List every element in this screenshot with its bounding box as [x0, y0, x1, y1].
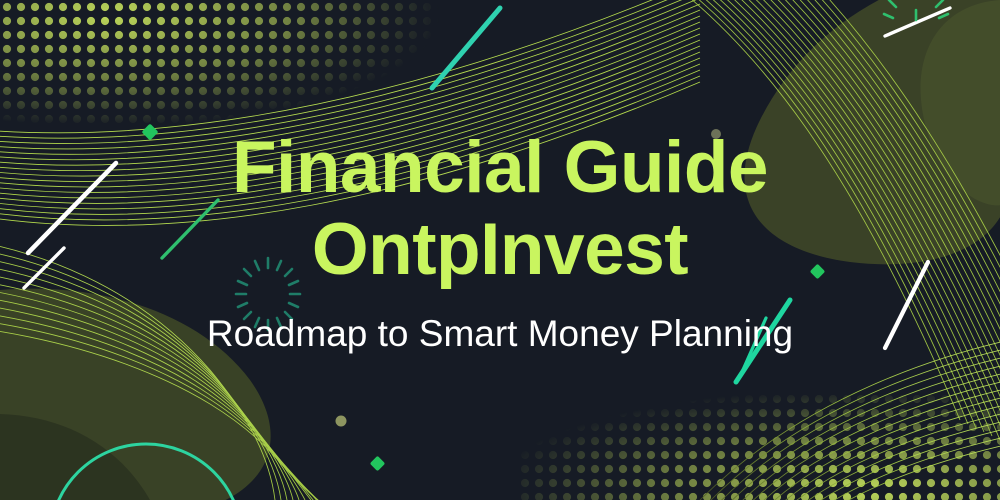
promotional-banner: Financial Guide OntpInvest Roadmap to Sm… — [0, 0, 1000, 500]
banner-title: Financial Guide OntpInvest — [232, 127, 768, 291]
title-line-1: Financial Guide — [232, 127, 768, 209]
banner-content: Financial Guide OntpInvest Roadmap to Sm… — [0, 0, 1000, 500]
banner-subtitle: Roadmap to Smart Money Planning — [207, 313, 793, 355]
title-line-2: OntpInvest — [232, 209, 768, 291]
